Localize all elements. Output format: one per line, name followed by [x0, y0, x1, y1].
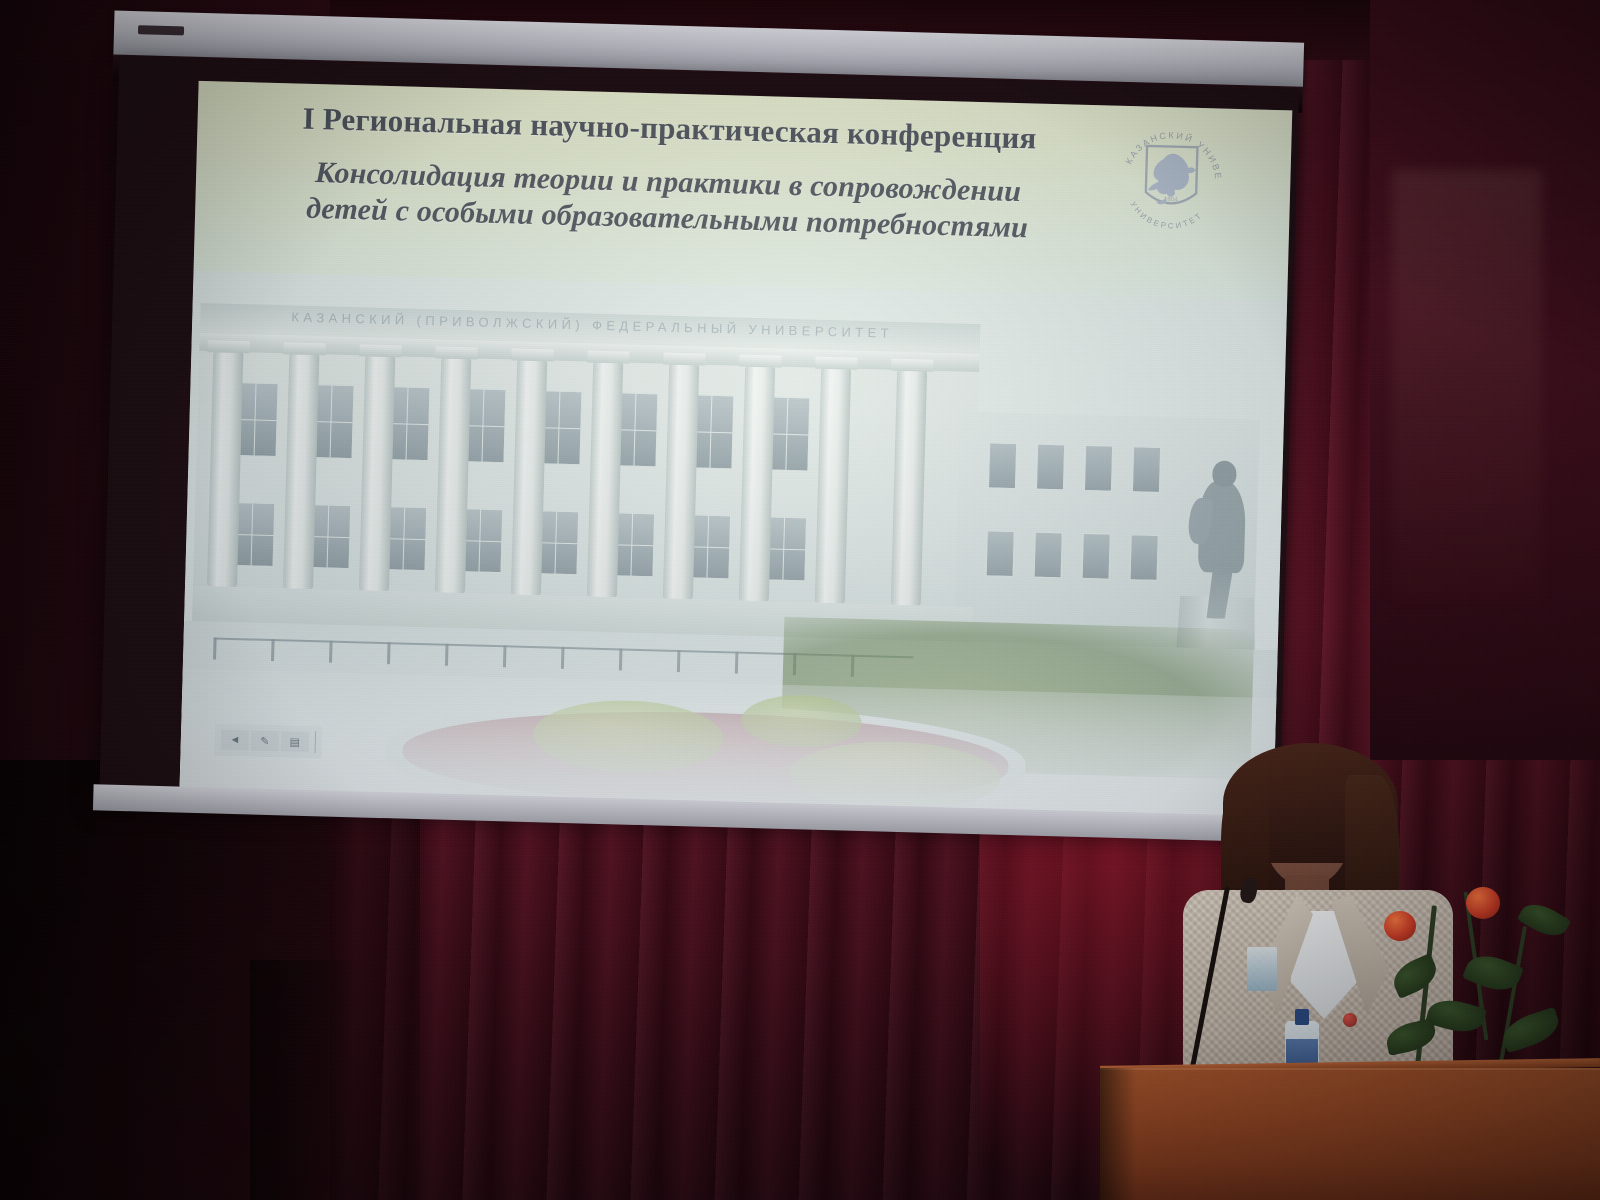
column	[283, 353, 319, 589]
window	[1132, 446, 1161, 493]
svg-text:УНИВЕРСИТЕТ: УНИВЕРСИТЕТ	[1128, 200, 1205, 232]
previous-slide-button[interactable]: ◄	[221, 730, 250, 751]
leaf	[1388, 953, 1442, 999]
window	[1084, 445, 1113, 492]
brooch	[1343, 1013, 1357, 1027]
rose-flower	[1384, 911, 1416, 941]
projection-screen: I Региональная научно-практическая конфе…	[72, 0, 1309, 867]
column	[435, 358, 471, 594]
kazan-federal-university-emblem: КАЗАНСКИЙ УНИВЕРСИТЕТ УНИВЕРСИТЕТ 1804	[1107, 116, 1236, 245]
screen-frame: I Региональная научно-практическая конфе…	[99, 57, 1299, 829]
slideshow-navigation-toolbar[interactable]: ◄ ✎ ▤	[214, 724, 322, 759]
column	[815, 368, 851, 604]
column	[587, 362, 623, 598]
toolbar-divider	[315, 731, 317, 753]
window	[1036, 444, 1065, 491]
svg-text:1804: 1804	[1164, 196, 1179, 203]
rose-flower	[1466, 887, 1500, 919]
presentation-slide[interactable]: I Региональная научно-практическая конфе…	[179, 81, 1292, 820]
leaf	[1384, 1018, 1439, 1056]
window	[1082, 533, 1111, 580]
podium-shadow	[1100, 1068, 1136, 1200]
wooden-speaker-podium	[1100, 1068, 1600, 1200]
slide-title: I Региональная научно-практическая конфе…	[289, 101, 1050, 156]
column	[207, 351, 243, 587]
conference-photo-scene: I Региональная научно-практическая конфе…	[0, 0, 1600, 1200]
column	[739, 366, 775, 602]
column	[359, 355, 395, 591]
bottle-cap	[1295, 1009, 1309, 1025]
window	[1034, 532, 1063, 579]
window	[986, 530, 1015, 577]
right-wall-light-panel	[1392, 170, 1542, 600]
conference-name-badge	[1247, 947, 1277, 991]
column	[663, 364, 699, 600]
slide-heading-block: I Региональная научно-практическая конфе…	[287, 101, 1050, 246]
column	[891, 370, 927, 606]
screen-mount-bracket	[138, 25, 184, 35]
window	[1130, 534, 1159, 581]
slideshow-menu-button[interactable]: ▤	[281, 731, 310, 752]
window	[988, 442, 1017, 489]
slide-subtitle: Консолидация теории и практики в сопрово…	[287, 154, 1049, 247]
lenin-monument	[1187, 458, 1259, 610]
pointer-options-button[interactable]: ✎	[251, 730, 280, 751]
column	[511, 360, 547, 596]
curtain-fold	[250, 960, 370, 1200]
